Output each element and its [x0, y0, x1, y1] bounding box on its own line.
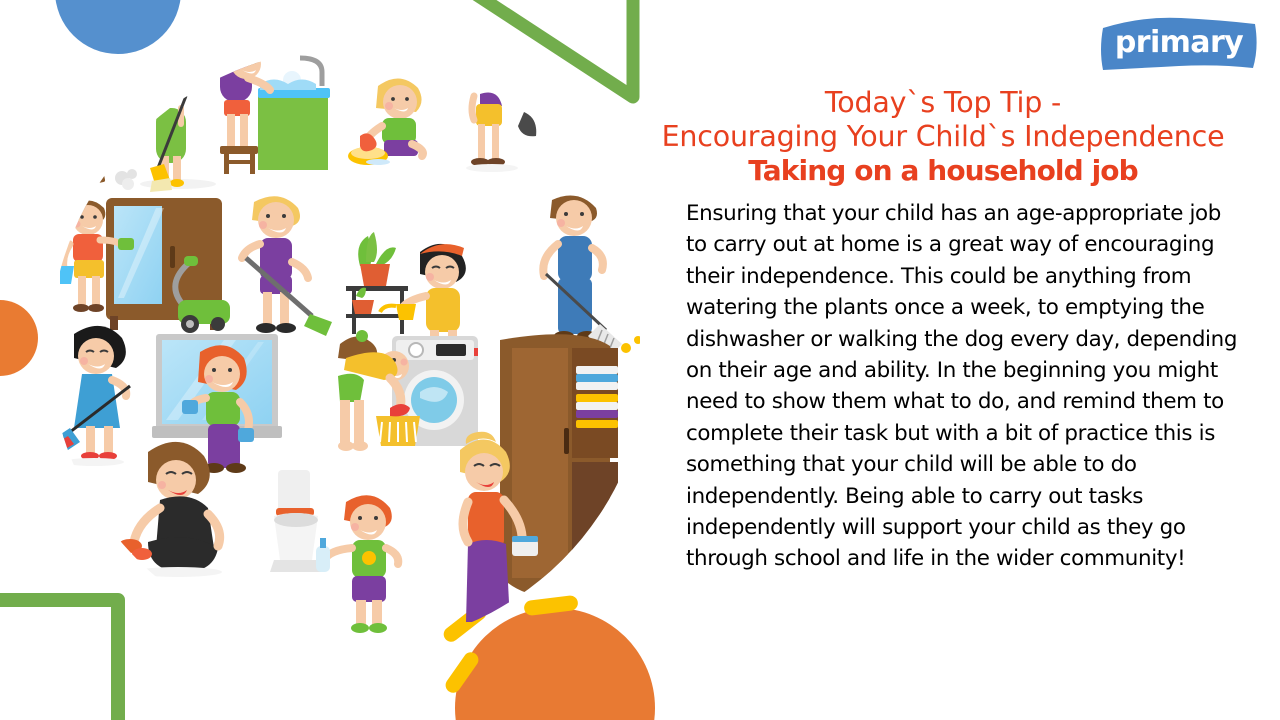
scene-woman-folding-towels	[460, 334, 618, 622]
scene-girl-washing-dishes	[220, 48, 330, 174]
body-paragraph: Ensuring that your child has an age-appr…	[626, 198, 1260, 575]
scene-boy-cleaning-toilet	[270, 470, 398, 633]
page-title: Today`s Top Tip - Encouraging Your Child…	[626, 86, 1260, 188]
blue-circle-decoration	[55, 0, 181, 54]
title-line-3: Taking on a household job	[748, 154, 1138, 187]
slide-canvas: primary Today`s Top Tip - Encouraging Yo…	[0, 0, 1280, 720]
scene-girl-sweeping	[81, 96, 216, 192]
scene-child-hand-washing	[348, 78, 423, 165]
title-line-2: Encouraging Your Child`s Independence	[662, 120, 1225, 153]
scene-woman-kneeling-cleaning	[118, 442, 222, 577]
chores-illustration	[60, 48, 640, 648]
scene-girl-loading-laundry	[338, 330, 478, 451]
primary-logo: primary	[1100, 14, 1258, 72]
logo-brush-shape	[1100, 14, 1258, 72]
title-line-1: Today`s Top Tip -	[825, 86, 1061, 119]
text-column: Today`s Top Tip - Encouraging Your Child…	[626, 86, 1260, 575]
orange-circle-left-decoration	[0, 300, 38, 376]
scene-child-bending	[466, 93, 536, 173]
scene-girl-mopping	[60, 326, 130, 466]
